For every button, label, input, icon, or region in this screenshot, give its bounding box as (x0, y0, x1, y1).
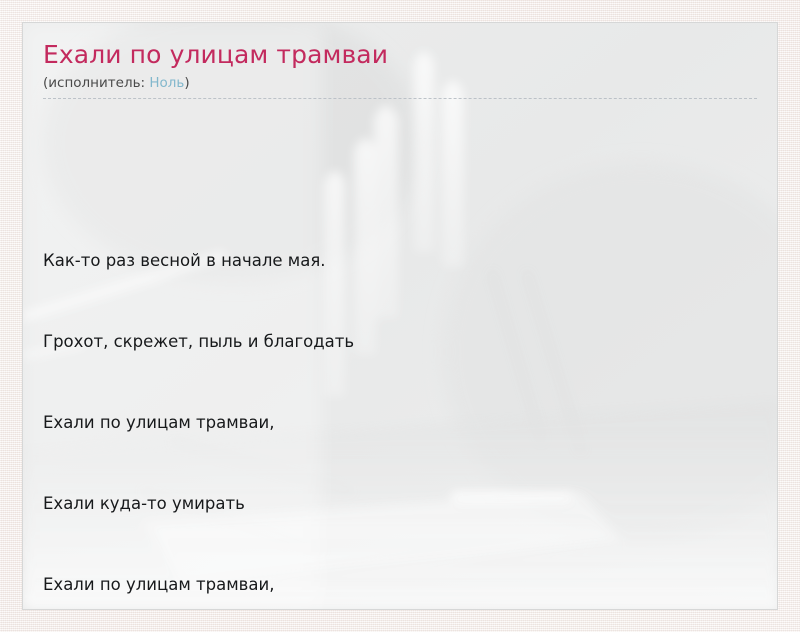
lyric-line: Как-то раз весной в начале мая. (43, 247, 757, 274)
page-frame: Ехали по улицам трамваи (исполнитель: Но… (0, 0, 800, 632)
lyrics-body: Как-то раз весной в начале мая. Грохот, … (43, 99, 757, 610)
lyrics-content-panel: Ехали по улицам трамваи (исполнитель: Но… (22, 22, 778, 610)
byline-prefix-label: (исполнитель: (43, 75, 149, 91)
lyric-line: Ехали по улицам трамваи, (43, 571, 757, 598)
lyrics-stanza: Как-то раз весной в начале мая. Грохот, … (43, 193, 757, 610)
artist-byline: (исполнитель: Ноль) (43, 75, 757, 91)
lyric-line: Ехали по улицам трамваи, (43, 409, 757, 436)
artist-link[interactable]: Ноль (149, 75, 184, 91)
lyric-line: Ехали куда-то умирать (43, 490, 757, 517)
lyric-line: Грохот, скрежет, пыль и благодать (43, 328, 757, 355)
page-title: Ехали по улицам трамваи (43, 41, 757, 69)
byline-suffix-label: ) (184, 75, 189, 91)
panel-content: Ехали по улицам трамваи (исполнитель: Но… (23, 23, 777, 610)
header-divider (43, 98, 757, 99)
